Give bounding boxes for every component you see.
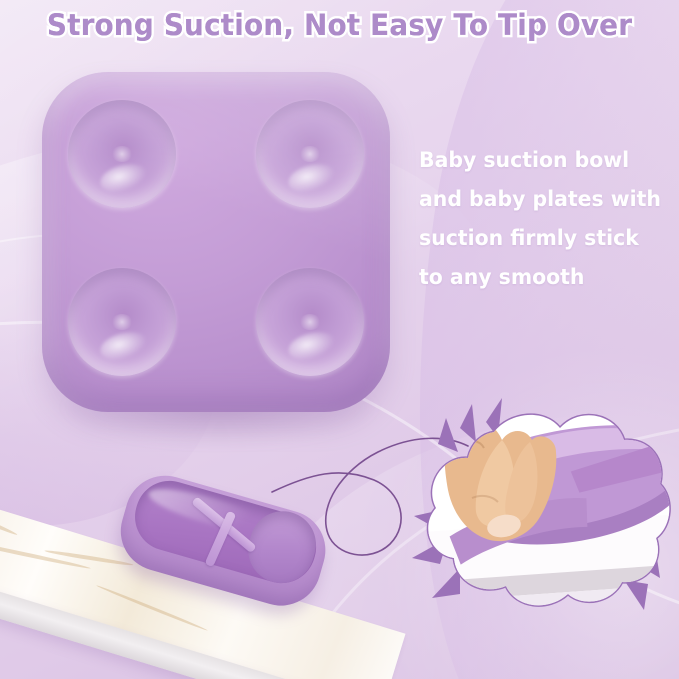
feature-line-2: and baby plates with (419, 180, 657, 219)
suction-cup-top-right (256, 100, 364, 208)
suction-cup-bottom-left (68, 268, 176, 376)
suction-plate-base (42, 72, 390, 412)
feature-description: Baby suction bowl and baby plates with s… (419, 141, 657, 297)
hero-product-group (38, 68, 394, 420)
marble-vein (0, 485, 18, 536)
cloud-inner-scene (398, 398, 679, 648)
cloud-shape (398, 398, 679, 648)
feature-line-4: to any smooth (419, 258, 657, 297)
suction-cup-top-left (68, 100, 176, 208)
product-marketing-image: Strong Suction, Not Easy To Tip Over Str… (0, 0, 679, 679)
cloud-callout-bubble (398, 398, 679, 648)
feature-line-1: Baby suction bowl (419, 141, 657, 180)
marble-vein (0, 535, 91, 570)
feature-line-3: suction firmly stick (419, 219, 657, 258)
suction-cup-bottom-right (256, 268, 364, 376)
page-title: Strong Suction, Not Easy To Tip Over (14, 8, 666, 42)
